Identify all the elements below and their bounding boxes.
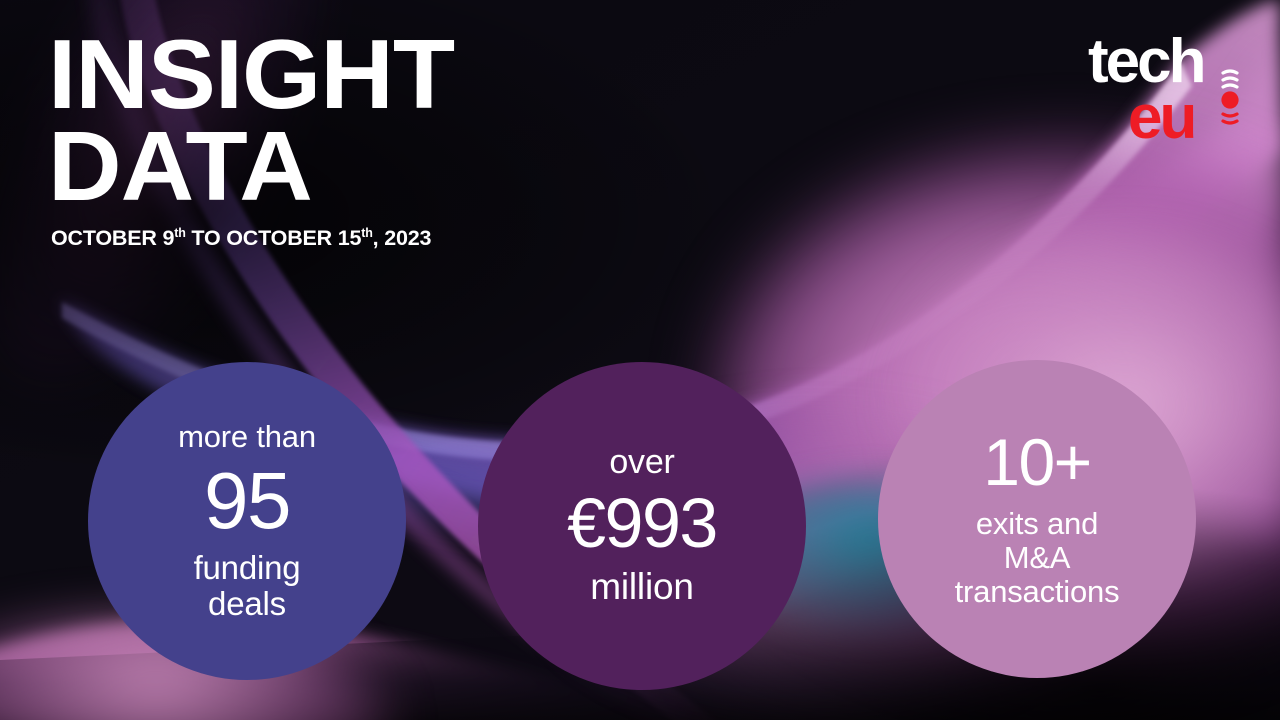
stat-2-value: €993 bbox=[567, 488, 717, 558]
stat-3-suffix-line-3: transactions bbox=[955, 574, 1120, 609]
tech-eu-logo[interactable]: tech eu bbox=[1086, 26, 1256, 146]
headline-block: INSIGHT DATA OCTOBER 9th TO OCTOBER 15th… bbox=[48, 30, 438, 251]
date-from-month: OCTOBER bbox=[51, 226, 157, 250]
stat-2-prefix: over bbox=[609, 444, 674, 481]
stat-3-suffix-line-1: exits and bbox=[976, 506, 1098, 541]
tech-eu-logo-graphic: tech eu bbox=[1086, 26, 1256, 146]
signal-waves-dot-icon bbox=[1221, 71, 1238, 123]
page-title-line-2: DATA bbox=[48, 122, 454, 210]
date-comma: , bbox=[373, 226, 385, 250]
date-to-day: 15 bbox=[338, 226, 362, 250]
stat-circle-funding-deals: more than 95 funding deals bbox=[88, 362, 406, 680]
stat-2-suffix: million bbox=[590, 567, 693, 608]
date-to-ordinal: th bbox=[361, 226, 372, 240]
date-range: OCTOBER 9th TO OCTOBER 15th, 2023 bbox=[51, 226, 438, 251]
date-from-day: 9 bbox=[163, 226, 175, 250]
date-connector: TO bbox=[191, 226, 220, 250]
stat-1-suffix-line-2: deals bbox=[208, 585, 286, 622]
insight-data-slide: INSIGHT DATA OCTOBER 9th TO OCTOBER 15th… bbox=[0, 0, 1280, 720]
date-to-month: OCTOBER bbox=[226, 226, 332, 250]
date-year: 2023 bbox=[384, 226, 431, 250]
stat-3-value: 10+ bbox=[983, 429, 1090, 495]
logo-word-eu: eu bbox=[1128, 83, 1194, 146]
stat-3-suffix-line-2: M&A bbox=[1004, 540, 1071, 575]
stat-1-value: 95 bbox=[204, 461, 290, 541]
stat-1-suffix-line-1: funding bbox=[194, 549, 301, 586]
page-title-line-1: INSIGHT bbox=[48, 30, 454, 118]
stat-circle-exits-and-ma: 10+ exits and M&A transactions bbox=[878, 360, 1196, 678]
stat-1-prefix: more than bbox=[178, 420, 316, 454]
stat-3-suffix: exits and M&A transactions bbox=[955, 507, 1120, 609]
date-from-ordinal: th bbox=[174, 226, 185, 240]
stat-circle-total-funding: over €993 million bbox=[478, 362, 806, 690]
stat-1-suffix: funding deals bbox=[194, 550, 301, 623]
